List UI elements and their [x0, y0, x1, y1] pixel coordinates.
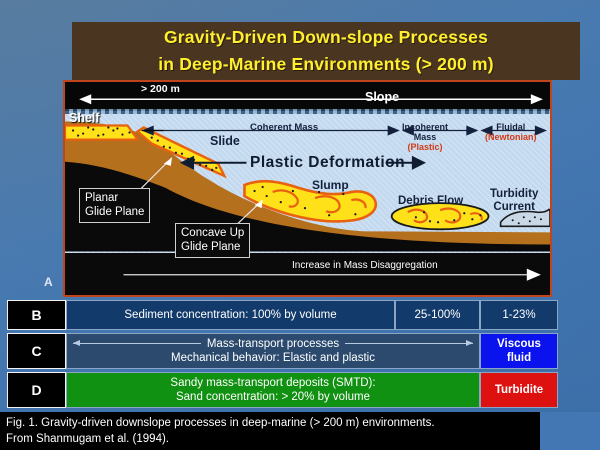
mass-transport-processes-cell: Mass-transport processes Mechanical beha… [66, 333, 480, 369]
process-table: B Sediment concentration: 100% by volume… [7, 300, 558, 411]
title-line-2: in Deep-Marine Environments (> 200 m) [72, 51, 580, 78]
sediment-concentration-cell: Sediment concentration: 100% by volume [66, 300, 395, 330]
shelf-label: Shelf [69, 111, 100, 125]
fluidal-line-1: Fluidal [496, 122, 525, 132]
viscous-fluid-line-2: fluid [507, 351, 531, 365]
figure-panel-a: > 200 m Slope Shelf Coherent Mass Incohe… [63, 80, 552, 297]
table-row-c: C Mass-transport processes Mechanical be… [7, 333, 558, 369]
planar-callout-line-1: Planar [85, 192, 144, 206]
title-line-1: Gravity-Driven Down-slope Processes [164, 27, 488, 47]
incoherent-line-2: Mass [414, 132, 437, 142]
mass-disaggregation-label: Increase in Mass Disaggregation [292, 260, 438, 271]
turbidity-line-2: Current [493, 201, 535, 213]
row-letter-b: B [7, 300, 66, 330]
slide-label: Slide [210, 134, 240, 148]
table-row-b: B Sediment concentration: 100% by volume… [7, 300, 558, 330]
turbidity-line-1: Turbidity [490, 188, 538, 200]
shelf-sediment [65, 125, 138, 139]
concave-callout-line-1: Concave Up [181, 227, 244, 241]
debris-flow-mass [392, 203, 489, 229]
turbidity-current-label: Turbidity Current [490, 188, 538, 214]
caption-side-strip [540, 412, 600, 450]
table-row-d: D Sandy mass-transport deposits (SMTD): … [7, 372, 558, 408]
debris-flow-label: Debris Flow [398, 195, 463, 207]
viscous-fluid-line-1: Viscous [497, 337, 541, 351]
planar-glide-plane-callout: Planar Glide Plane [79, 188, 150, 223]
coherent-mass-label: Coherent Mass [250, 122, 318, 133]
caption-line-2: From Shanmugam et al. (1994). [6, 431, 536, 447]
planar-callout-line-2: Glide Plane [85, 206, 144, 220]
mass-transport-line-2: Mechanical behavior: Elastic and plastic [171, 351, 375, 365]
panel-letter-a: A [44, 275, 53, 289]
slump-label: Slump [312, 178, 349, 192]
incoherent-sub: (Plastic) [408, 142, 443, 152]
row-letter-c: C [7, 333, 66, 369]
concave-glide-plane-callout: Concave Up Glide Plane [175, 223, 250, 258]
concave-callout-line-2: Glide Plane [181, 241, 244, 255]
slope-extent-arrow [79, 94, 543, 104]
caption-line-1: Fig. 1. Gravity-driven downslope process… [6, 415, 536, 431]
row-letter-d: D [7, 372, 66, 408]
incoherent-line-1: Incoherent [402, 122, 448, 132]
viscous-fluid-cell: Viscous fluid [480, 333, 558, 369]
smtd-cell: Sandy mass-transport deposits (SMTD): Sa… [66, 372, 480, 408]
depth-label: > 200 m [141, 83, 180, 95]
concentration-25-100-cell: 25-100% [395, 300, 480, 330]
smtd-line-2: Sand concentration: > 20% by volume [176, 390, 370, 404]
mass-transport-line-1: Mass-transport processes [201, 337, 345, 351]
incoherent-mass-label: Incoherent Mass (Plastic) [402, 122, 448, 152]
turbidite-cell: Turbidite [480, 372, 558, 408]
slope-label: Slope [365, 90, 399, 104]
slide-root: Gravity-Driven Down-slope Processes in D… [0, 0, 600, 450]
figure-caption: Fig. 1. Gravity-driven downslope process… [0, 412, 540, 450]
page-title: Gravity-Driven Down-slope Processes in D… [72, 24, 580, 80]
plastic-deformation-label: Plastic Deformation [250, 154, 405, 172]
concentration-1-23-cell: 1-23% [480, 300, 558, 330]
smtd-line-1: Sandy mass-transport deposits (SMTD): [170, 376, 375, 390]
fluidal-label: Fluidal (Newtonian) [485, 122, 537, 142]
fluidal-sub: (Newtonian) [485, 132, 537, 142]
